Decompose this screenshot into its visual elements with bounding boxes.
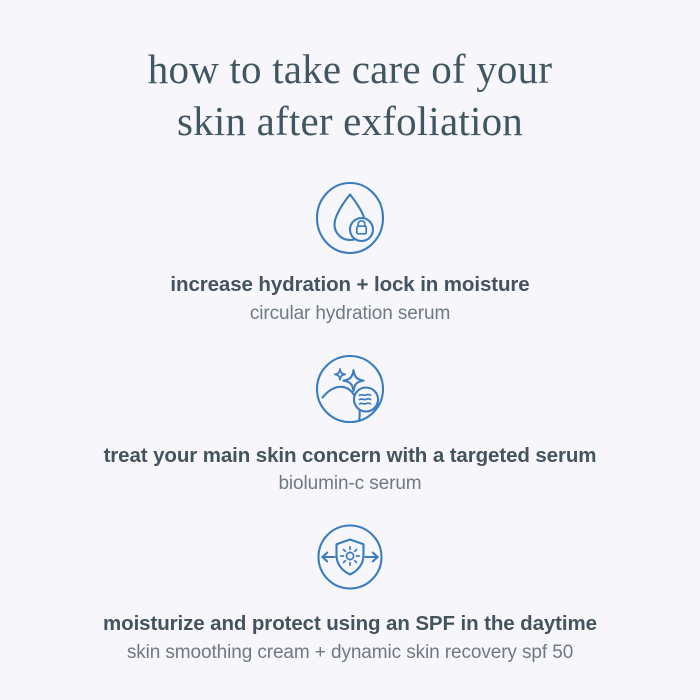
water-drop-lock-icon (309, 177, 391, 259)
step-product-targeted-serum: biolumin-c serum (278, 473, 421, 496)
glowing-skin-serum-icon (309, 348, 391, 430)
skincare-infographic: how to take care of your skin after exfo… (0, 0, 700, 700)
step-item-spf: moisturize and protect using an SPF in t… (0, 516, 700, 664)
step-heading-hydration: increase hydration + lock in moisture (170, 273, 529, 298)
step-item-hydration: increase hydration + lock in moisture ci… (0, 177, 700, 325)
steps-list: increase hydration + lock in moisture ci… (0, 167, 700, 664)
step-product-hydration: circular hydration serum (250, 303, 450, 326)
step-product-spf: skin smoothing cream + dynamic skin reco… (127, 642, 573, 665)
step-heading-targeted-serum: treat your main skin concern with a targ… (104, 444, 597, 469)
page-title-line-2: skin after exfoliation (50, 96, 650, 148)
page-title: how to take care of your skin after exfo… (50, 44, 650, 147)
step-heading-spf: moisturize and protect using an SPF in t… (103, 612, 597, 637)
step-item-targeted-serum: treat your main skin concern with a targ… (0, 348, 700, 496)
spf-shield-sun-icon (309, 516, 391, 598)
page-title-line-1: how to take care of your (50, 44, 650, 96)
